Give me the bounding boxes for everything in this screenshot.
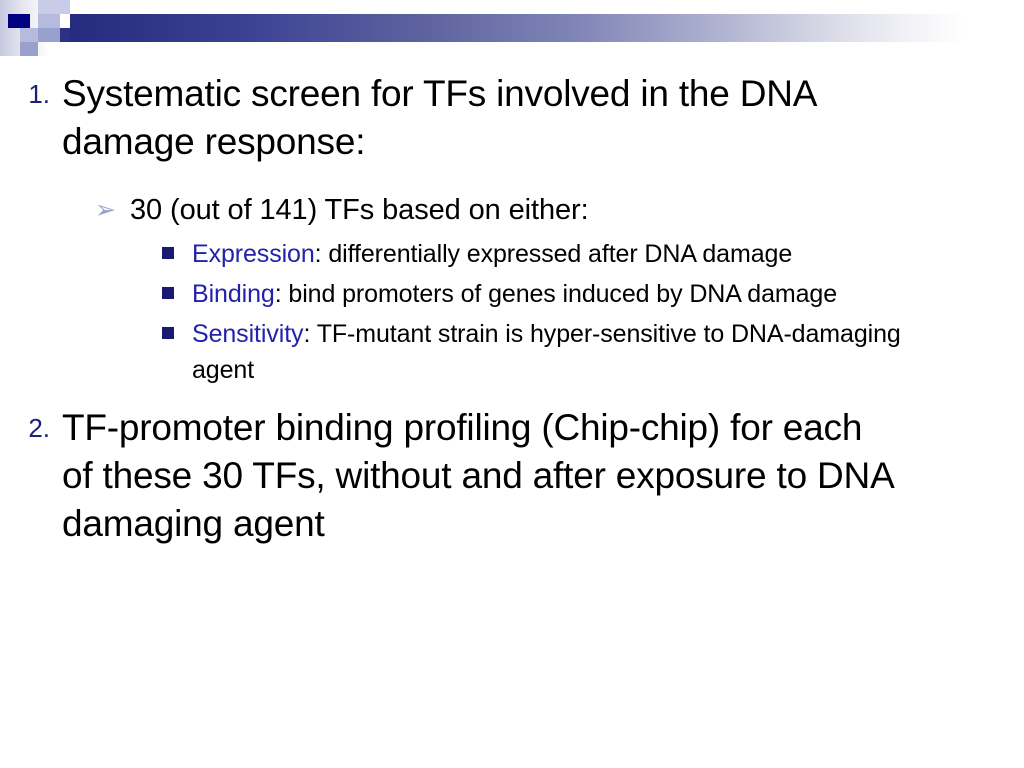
square-bullet-icon — [0, 236, 192, 274]
header-gradient-bar — [60, 14, 964, 42]
list-item-sensitivity-text: Sensitivity: TF-mutant strain is hyper-s… — [192, 316, 932, 388]
slide-content: 1. Systematic screen for TFs involved in… — [0, 70, 1024, 552]
list-item-binding: Binding: bind promoters of genes induced… — [0, 276, 1024, 314]
list-item-1: 1. Systematic screen for TFs involved in… — [0, 70, 1024, 166]
deco-square-c — [38, 28, 60, 42]
deco-square-e — [20, 42, 38, 56]
list-item-1-marker: 1. — [0, 70, 62, 118]
deco-square-a — [38, 0, 60, 14]
deco-square-d — [20, 28, 38, 42]
deco-knockout-a — [60, 14, 70, 28]
list-item-2-text: TF-promoter binding profiling (Chip-chip… — [62, 404, 902, 548]
list-item-1-sub: ➢ 30 (out of 141) TFs based on either: — [0, 190, 1024, 230]
deco-square-dark-inner — [16, 14, 30, 28]
list-item-sensitivity: Sensitivity: TF-mutant strain is hyper-s… — [0, 316, 1024, 388]
keyword-expression: Expression — [192, 240, 315, 268]
square-bullet-icon — [0, 276, 192, 314]
deco-square-b — [38, 14, 60, 28]
separator-binding: : — [275, 280, 289, 308]
deco-square-g — [60, 28, 70, 42]
detail-binding: bind promoters of genes induced by DNA d… — [288, 280, 837, 308]
list-item-1-sub-text: 30 (out of 141) TFs based on either: — [130, 190, 1024, 230]
list-item-2-marker: 2. — [0, 404, 62, 452]
list-item-1-text: Systematic screen for TFs involved in th… — [62, 70, 902, 166]
slide-header-decoration — [0, 0, 1024, 56]
deco-square-f — [60, 0, 70, 14]
spacer — [0, 390, 1024, 404]
separator-expression: : — [315, 240, 329, 268]
separator-sensitivity: : — [303, 320, 316, 348]
list-item-expression-text: Expression: differentially expressed aft… — [192, 236, 932, 272]
spacer — [0, 170, 1024, 182]
detail-expression: differentially expressed after DNA damag… — [328, 240, 792, 268]
keyword-binding: Binding — [192, 280, 275, 308]
list-item-2: 2. TF-promoter binding profiling (Chip-c… — [0, 404, 1024, 548]
keyword-sensitivity: Sensitivity — [192, 320, 303, 348]
square-bullet-icon — [0, 316, 192, 354]
list-item-expression: Expression: differentially expressed aft… — [0, 236, 1024, 274]
list-item-binding-text: Binding: bind promoters of genes induced… — [192, 276, 932, 312]
arrow-bullet-icon: ➢ — [0, 190, 130, 230]
